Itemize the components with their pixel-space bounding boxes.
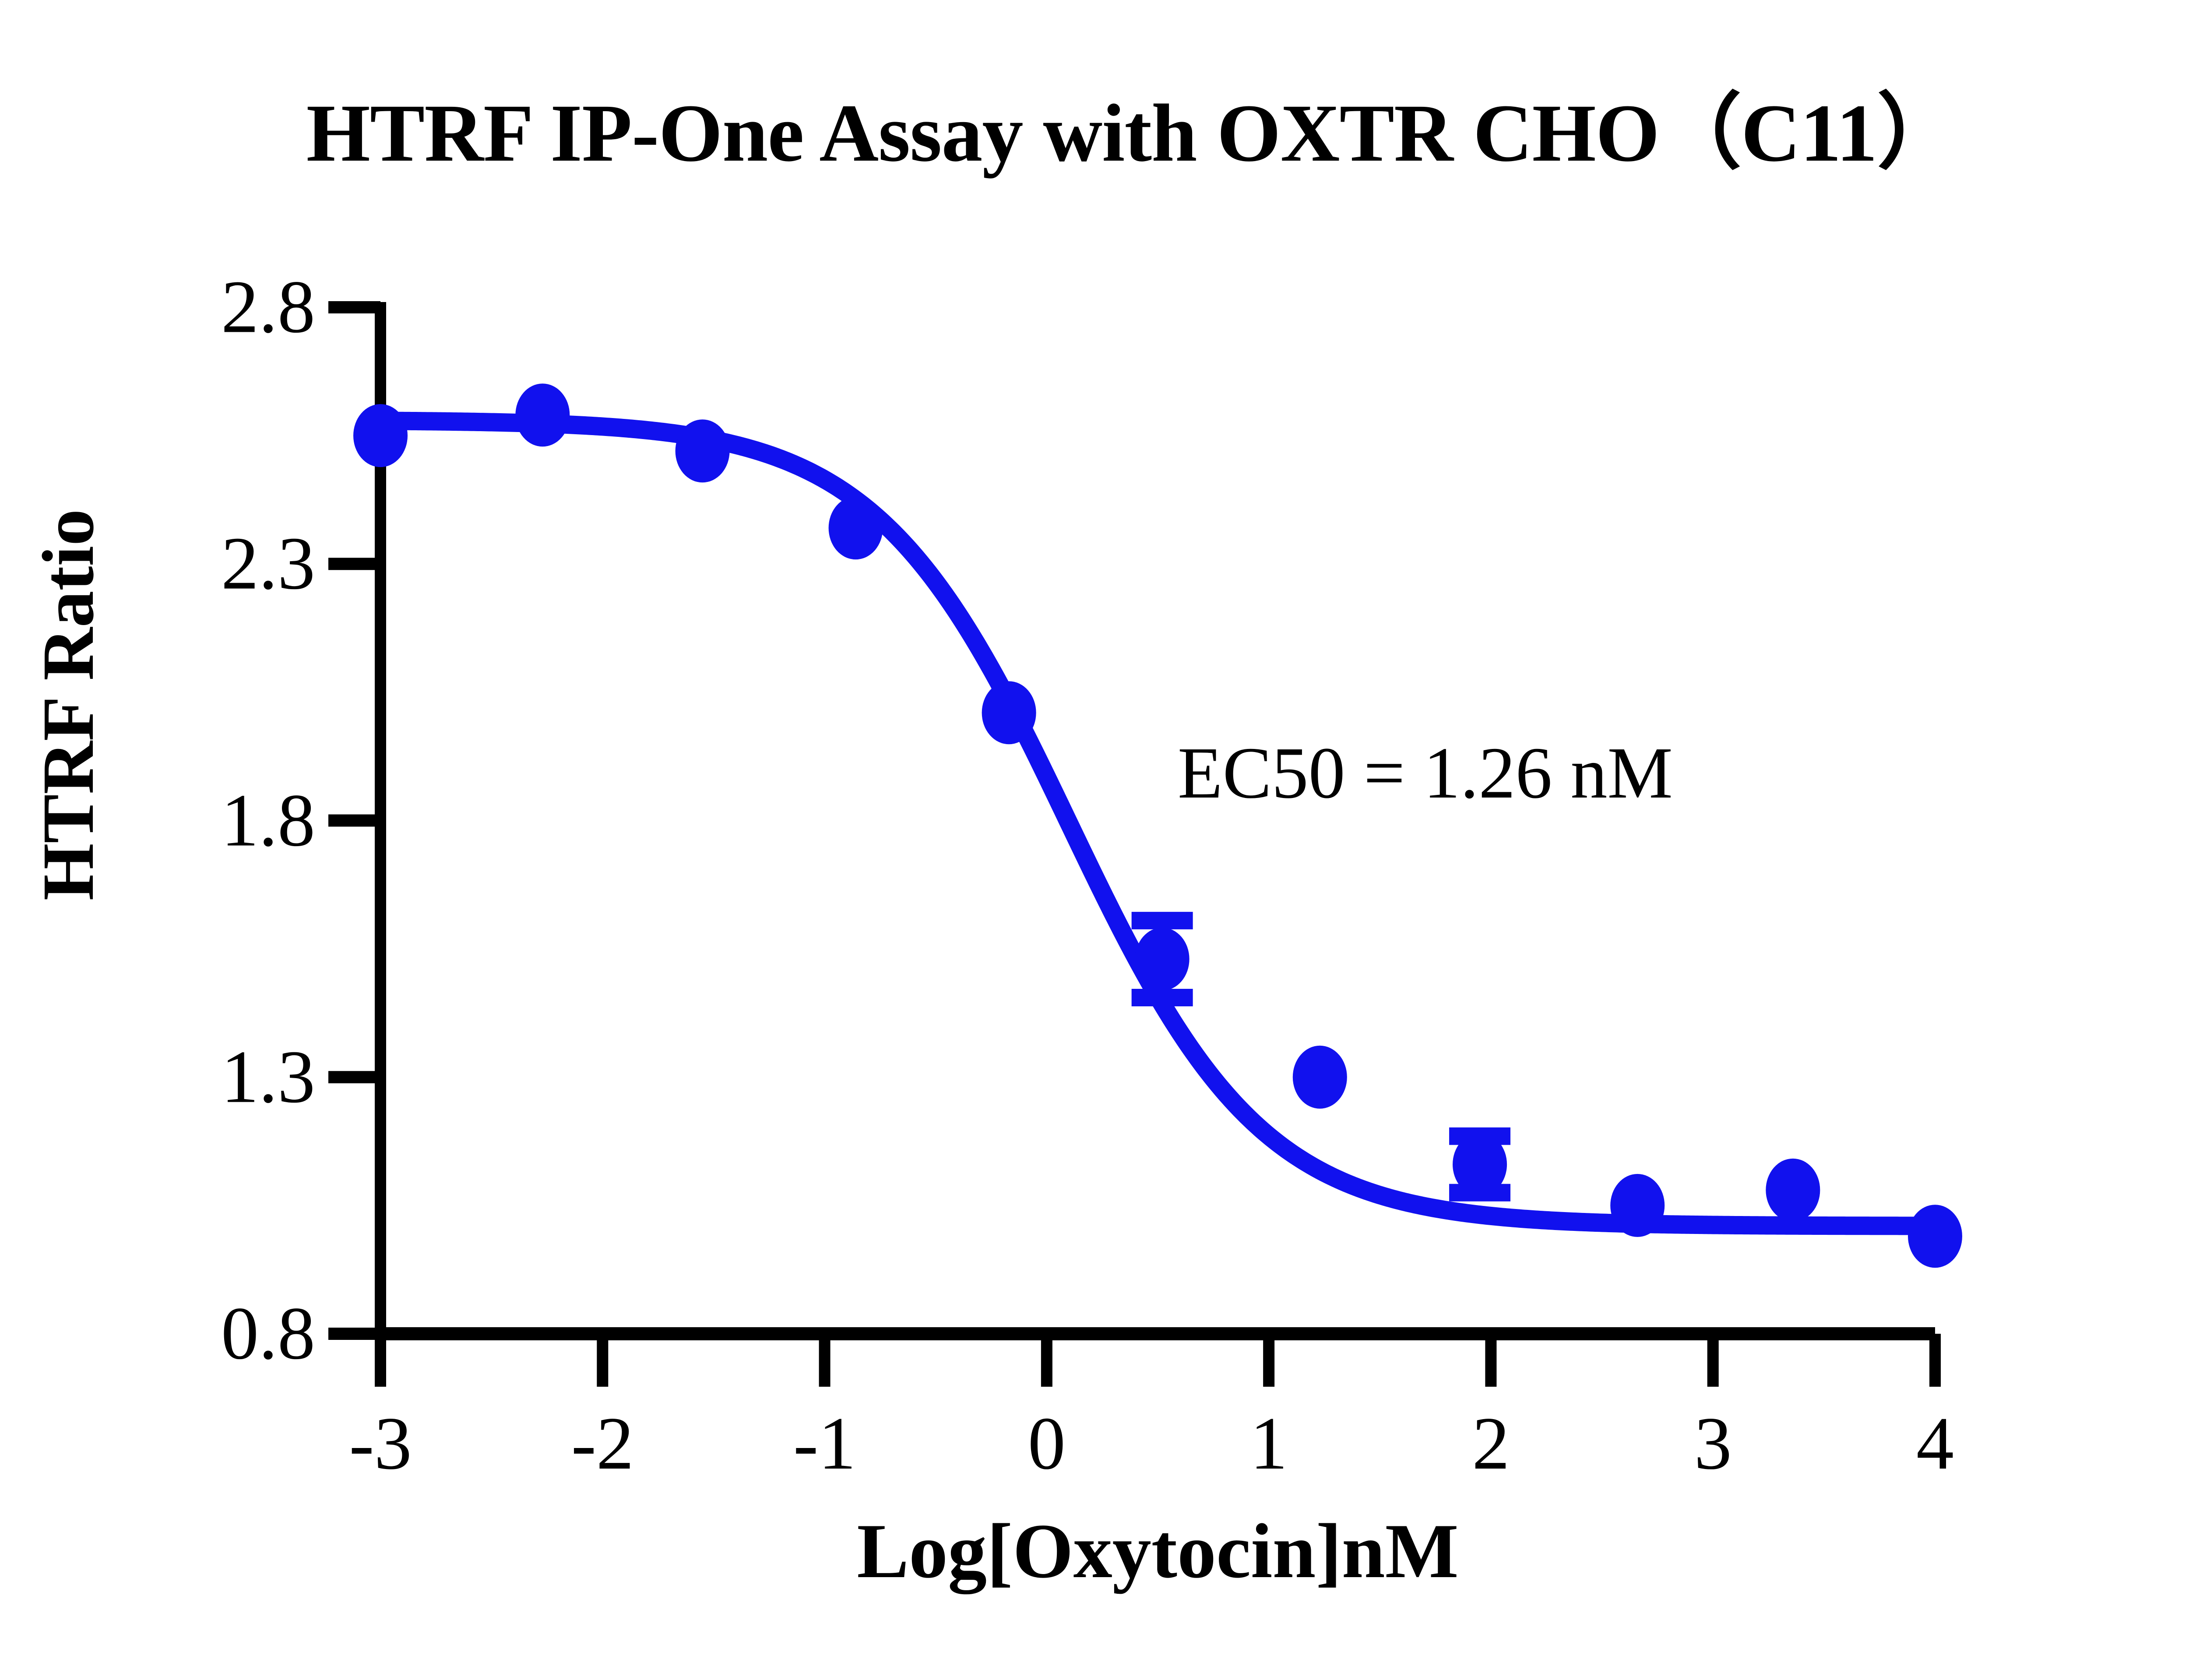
x-tick-label: 2 [1472, 1401, 1510, 1487]
x-axis-ticks [380, 1334, 1935, 1387]
ec50-annotation: EC50 = 1.26 nM [1178, 731, 1673, 815]
x-tick-label: 1 [1250, 1401, 1288, 1487]
data-point [353, 404, 408, 467]
data-point [1453, 1133, 1507, 1196]
data-point [1135, 928, 1190, 991]
data-point [829, 496, 883, 559]
x-tick-label: -3 [349, 1401, 412, 1487]
plot-area [0, 0, 2189, 1680]
fit-curve [380, 421, 1935, 1226]
x-tick-label: -1 [793, 1401, 856, 1487]
axes [375, 302, 1935, 1334]
chart-figure: HTRF IP-One Assay with OXTR CHO（C11） HTR… [0, 0, 2189, 1680]
data-point [1293, 1046, 1347, 1109]
x-tick-label: 4 [1916, 1401, 1954, 1487]
y-tick-label: 2.8 [88, 264, 315, 351]
y-tick-label: 1.3 [88, 1034, 315, 1120]
data-point [515, 383, 570, 446]
y-tick-label: 1.8 [88, 777, 315, 864]
y-tick-label: 2.3 [88, 521, 315, 607]
x-tick-label: -2 [571, 1401, 634, 1487]
dose-response-curve [380, 421, 1935, 1226]
data-point [982, 681, 1036, 744]
data-points [353, 383, 1962, 1268]
data-point [676, 419, 730, 482]
data-point [1908, 1205, 1962, 1268]
data-point [1766, 1159, 1820, 1222]
y-tick-label: 0.8 [88, 1291, 315, 1377]
x-tick-label: 3 [1694, 1401, 1732, 1487]
x-tick-label: 0 [1028, 1401, 1066, 1487]
data-point [1610, 1174, 1665, 1237]
